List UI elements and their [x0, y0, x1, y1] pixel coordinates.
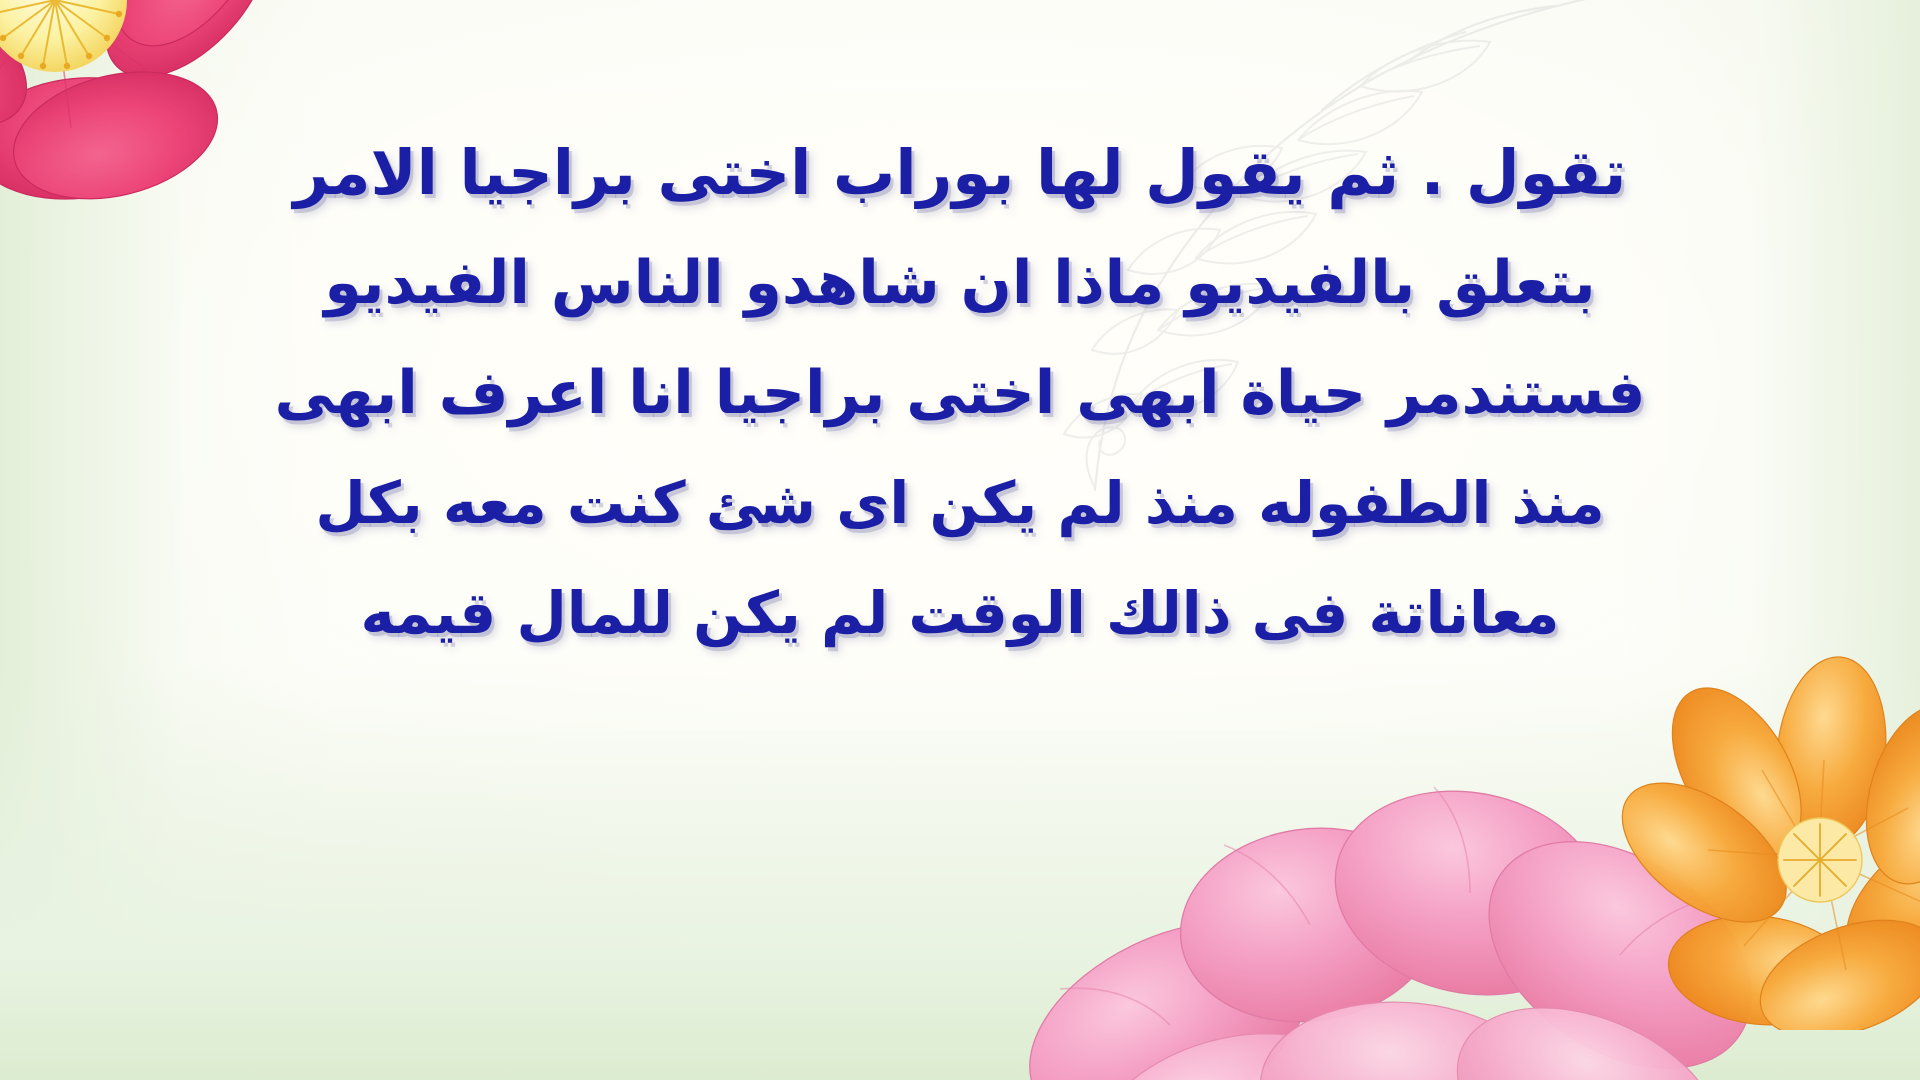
- caption-line-3: فستندمر حياة ابهى اختى براجيا انا اعرف ا…: [274, 338, 1645, 448]
- caption-line-1: تقول . ثم يقول لها بوراب اختى براجيا الا…: [294, 118, 1627, 228]
- caption-text-block: تقول . ثم يقول لها بوراب اختى براجيا الا…: [0, 118, 1920, 668]
- caption-line-2: بتعلق بالفيديو ماذا ان شاهدو الناس الفيد…: [324, 228, 1595, 338]
- caption-line-5: معاناتة فى ذالك الوقت لم يكن للمال قيمه: [361, 558, 1560, 668]
- slide-canvas: تقول . ثم يقول لها بوراب اختى براجيا الا…: [0, 0, 1920, 1080]
- caption-line-4: منذ الطفوله منذ لم يكن اى شئ كنت معه بكل: [315, 448, 1604, 558]
